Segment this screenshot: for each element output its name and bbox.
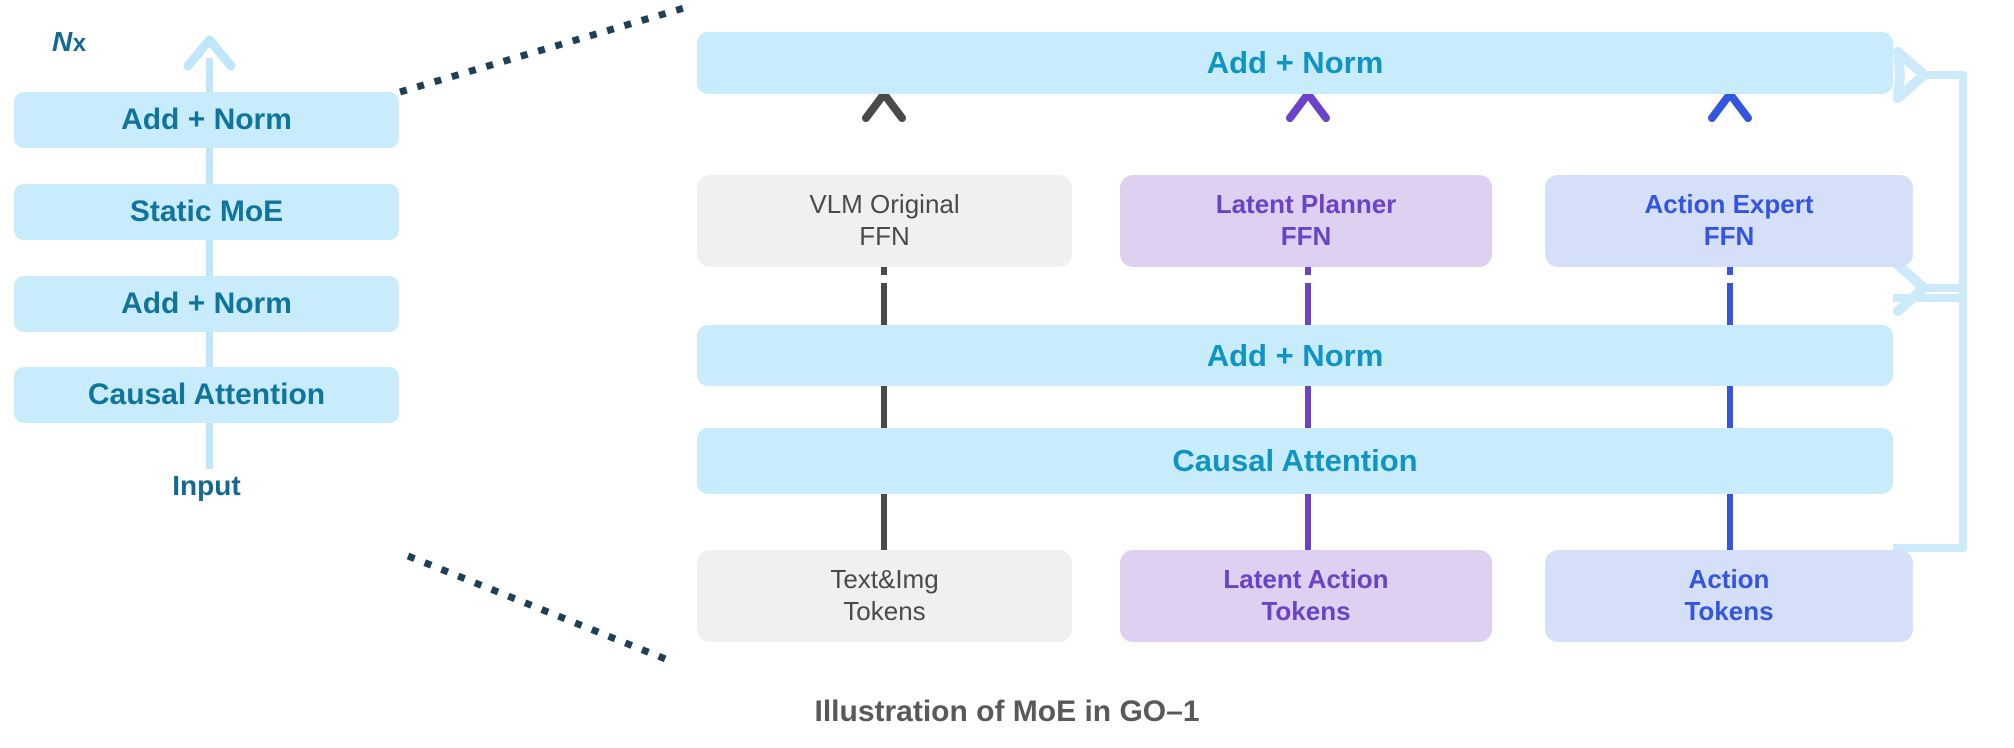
right-causal-attention-label: Causal Attention: [1172, 442, 1417, 480]
right-add-norm-middle-label: Add + Norm: [1207, 337, 1384, 375]
arrow-head-blue: [1712, 94, 1748, 118]
left-spine-seg-3: [206, 330, 213, 372]
input-label-text: Input: [172, 470, 240, 501]
token-box-label: Text&Img Tokens: [830, 564, 938, 627]
figure-canvas: Nx Add + Norm Static MoE Add + Norm Caus…: [0, 0, 2014, 748]
connector-blue-addnorm-to-ffn: [1727, 283, 1733, 325]
right-add-norm-middle[interactable]: Add + Norm: [697, 325, 1893, 386]
repeat-count-label: Nx: [52, 26, 87, 58]
figure-caption-text: Illustration of MoE in GO–1: [814, 695, 1199, 728]
left-block-add-norm-top[interactable]: Add + Norm: [14, 92, 399, 148]
token-box-label: Latent Action Tokens: [1223, 564, 1388, 627]
ffn-box-latent-planner[interactable]: Latent Planner FFN: [1120, 175, 1492, 267]
ffn-box-vlm-original[interactable]: VLM Original FFN: [697, 175, 1072, 267]
token-box-action[interactable]: Action Tokens: [1545, 550, 1913, 642]
figure-caption: Illustration of MoE in GO–1: [0, 695, 2014, 729]
left-spine-seg-1: [206, 147, 213, 187]
connector-gray-tokens-to-attn: [881, 494, 887, 550]
repeat-count-n: N: [52, 26, 73, 57]
skip-connection-lower: [1893, 265, 1963, 548]
left-block-static-moe[interactable]: Static MoE: [14, 184, 399, 240]
right-causal-attention[interactable]: Causal Attention: [697, 428, 1893, 494]
right-add-norm-top-label: Add + Norm: [1207, 44, 1384, 82]
left-spine-bottom: [206, 421, 213, 469]
left-spine-seg-2: [206, 238, 213, 280]
ffn-box-action-expert[interactable]: Action Expert FFN: [1545, 175, 1913, 267]
left-block-label: Add + Norm: [121, 102, 292, 139]
token-box-latent-action[interactable]: Latent Action Tokens: [1120, 550, 1492, 642]
connector-purple-attn-to-addnorm: [1305, 386, 1311, 428]
dotted-connector-lower: [408, 556, 668, 660]
ffn-box-label: VLM Original FFN: [809, 189, 959, 252]
left-block-label: Static MoE: [130, 194, 283, 231]
left-block-causal-attention[interactable]: Causal Attention: [14, 367, 399, 423]
token-box-label: Action Tokens: [1684, 564, 1773, 627]
connector-gray-addnorm-to-ffn: [881, 283, 887, 325]
connector-gray-attn-to-addnorm: [881, 386, 887, 428]
token-box-text-img[interactable]: Text&Img Tokens: [697, 550, 1072, 642]
connector-blue-tokens-to-attn: [1727, 494, 1733, 550]
input-label: Input: [14, 470, 399, 502]
ffn-box-label: Latent Planner FFN: [1216, 189, 1397, 252]
repeat-count-x: x: [73, 30, 87, 57]
left-block-label: Add + Norm: [121, 286, 292, 323]
connector-purple-tokens-to-attn: [1305, 494, 1311, 550]
left-block-label: Causal Attention: [88, 377, 325, 414]
connector-purple-addnorm-to-ffn: [1305, 283, 1311, 325]
arrow-head-purple: [1290, 94, 1326, 118]
connector-blue-attn-to-addnorm: [1727, 386, 1733, 428]
dotted-connector-upper: [400, 8, 684, 92]
left-block-add-norm-bottom[interactable]: Add + Norm: [14, 276, 399, 332]
ffn-box-label: Action Expert FFN: [1644, 189, 1813, 252]
right-add-norm-top[interactable]: Add + Norm: [697, 32, 1893, 94]
arrow-head-gray: [866, 94, 902, 118]
